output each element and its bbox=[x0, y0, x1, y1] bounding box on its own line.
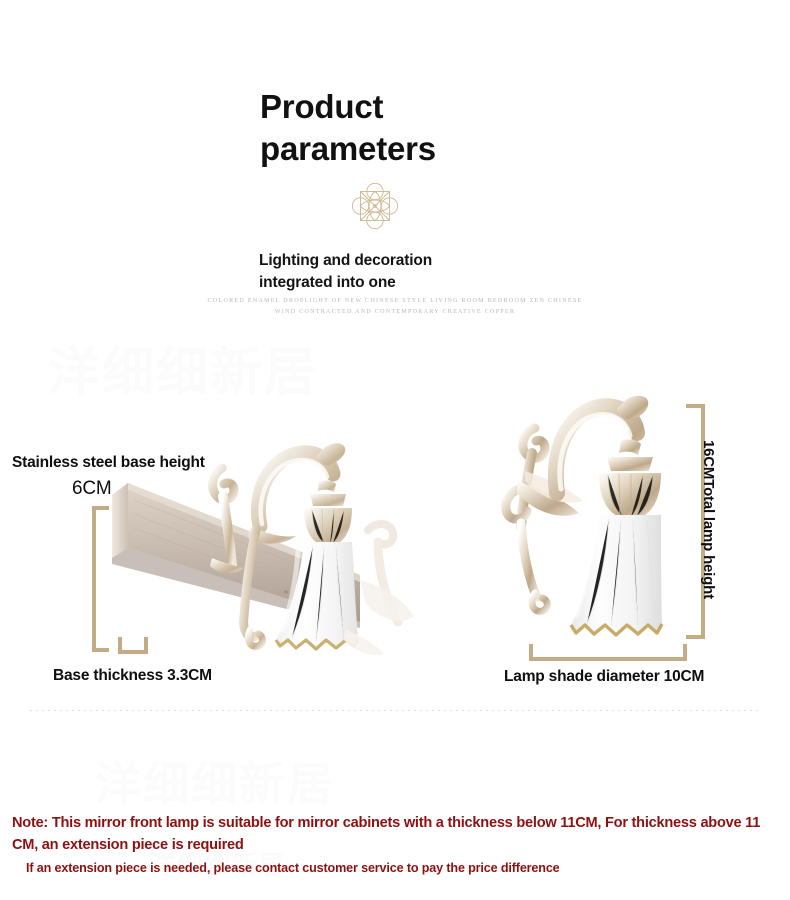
section-divider bbox=[30, 710, 762, 711]
base-height-value: 6CM bbox=[72, 478, 112, 500]
caps-tagline-line2: WIND CONTRACTED AND CONTEMPORARY CREATIV… bbox=[0, 309, 790, 315]
product-parameters-page: Product parameters Lighting and decorati… bbox=[0, 0, 790, 900]
watermark-top: 洋细细新居 bbox=[48, 330, 318, 405]
subtitle: Lighting and decoration integrated into … bbox=[259, 250, 499, 294]
page-title: Product parameters bbox=[260, 86, 560, 170]
note-sub: If an extension piece is needed, please … bbox=[26, 861, 560, 875]
base-height-label: Stainless steel base height bbox=[12, 454, 205, 472]
note-main: Note: This mirror front lamp is suitable… bbox=[12, 812, 780, 856]
lamp-shade-diameter-label: Lamp shade diameter 10CM bbox=[504, 668, 704, 686]
base-thickness-measure-bracket bbox=[118, 636, 148, 654]
watermark-middle: 洋细细新居 bbox=[95, 748, 335, 814]
caps-tagline-line1: COLORED ENAMEL DROPLIGHT OF NEW CHINESE … bbox=[0, 298, 790, 304]
wall-lamp-side-view-photo bbox=[495, 393, 695, 648]
base-thickness-label: Base thickness 3.3CM bbox=[53, 667, 212, 685]
total-lamp-height-text: Total lamp height bbox=[700, 479, 717, 599]
quatrefoil-rosette-ornament-icon bbox=[352, 180, 398, 232]
total-lamp-height-value: 16CM bbox=[700, 440, 717, 479]
total-lamp-height-label: 16CMTotal lamp height bbox=[700, 440, 716, 599]
page-title-line2: parameters bbox=[260, 128, 560, 170]
page-title-line1: Product bbox=[260, 86, 560, 128]
base-height-measure-bracket bbox=[92, 506, 112, 652]
lamp-shade-diameter-measure-bracket bbox=[529, 643, 687, 661]
